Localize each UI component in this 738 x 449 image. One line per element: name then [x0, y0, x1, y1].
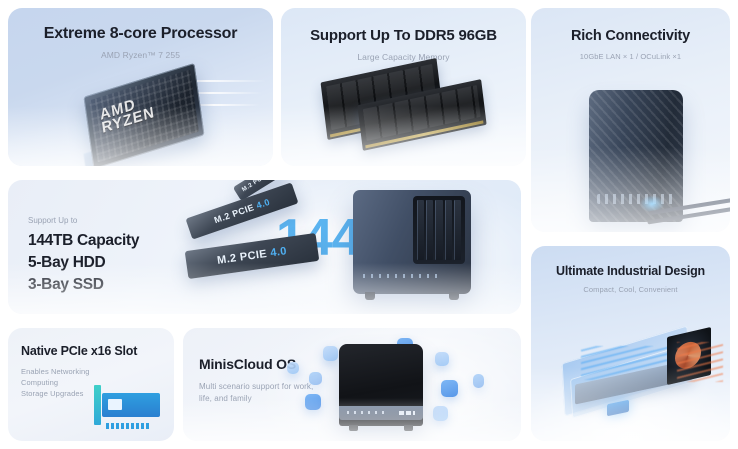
panel-industrial-design: Ultimate Industrial Design Compact, Cool…	[531, 246, 730, 441]
pcie-edge-connector	[106, 423, 150, 429]
panel-miniscloud-os: MinisCloud OS Multi scenario support for…	[183, 328, 521, 441]
storage-eyebrow: Support Up to	[28, 216, 77, 225]
nas-cube-icon	[353, 190, 471, 294]
storage-lines: 144TB Capacity 5-Bay HDD 3-Bay SSD	[28, 230, 139, 296]
design-title: Ultimate Industrial Design	[531, 264, 730, 278]
design-subtitle: Compact, Cool, Convenient	[531, 285, 730, 294]
panel-processor: Extreme 8-core Processor AMD Ryzen™ 7 25…	[8, 8, 273, 166]
sync-app-icon	[433, 406, 448, 421]
nas-foot	[365, 292, 375, 300]
processor-title: Extreme 8-core Processor	[8, 25, 273, 43]
drive-bay	[454, 200, 461, 260]
pcie-pcb	[102, 393, 160, 417]
pcie-bracket	[94, 385, 101, 425]
backup-app-icon	[435, 352, 449, 366]
cpu-chip-icon: AMD RYZEN	[8, 62, 273, 166]
nas-foot	[349, 425, 358, 431]
pcie-title: Native PCIe x16 Slot	[21, 344, 174, 358]
nas-ports	[399, 411, 415, 415]
status-leds	[363, 274, 441, 278]
nas-device-icon	[339, 344, 423, 426]
exploded-view-render	[545, 324, 717, 420]
storage-line-capacity: 144TB Capacity	[28, 230, 139, 252]
os-subtitle-line-2: life, and family	[199, 393, 344, 405]
processor-subtitle: AMD Ryzen™ 7 255	[8, 50, 273, 60]
sync-app-icon	[287, 362, 299, 374]
panel-storage: Support Up to 144TB Capacity 5-Bay HDD 3…	[8, 180, 521, 314]
nas-foot	[404, 425, 413, 431]
panel-pcie-slot: Native PCIe x16 Slot Enables Networking …	[8, 328, 174, 441]
memory-title: Support Up To DDR5 96GB	[281, 27, 526, 44]
heat-lines	[677, 342, 723, 382]
memory-subtitle: Large Capacity Memory	[281, 52, 526, 62]
drive-bay	[445, 200, 452, 260]
panel-memory: Support Up To DDR5 96GB Large Capacity M…	[281, 8, 526, 166]
nas-foot	[449, 292, 459, 300]
pcie-card-icon	[94, 391, 160, 425]
connectivity-subtitle: 10GbE LAN × 1 / OCuLink ×1	[531, 52, 730, 61]
pcie-subtitle-line-1: Enables Networking	[21, 366, 174, 377]
storage-line-ssd: 3-Bay SSD	[28, 274, 139, 296]
files-app-icon	[305, 394, 321, 410]
ssd-label: M.2 PCIE 4.0	[213, 197, 271, 225]
os-subtitle: Multi scenario support for work, life, a…	[199, 381, 344, 405]
ssd-label: M.2 PCIE 4.0	[216, 245, 287, 267]
drive-bays	[413, 196, 465, 264]
photos-app-icon	[323, 346, 338, 361]
docker-app-icon	[441, 380, 458, 397]
m2-ssd-icon: M.2 PCIE 4.0	[185, 233, 320, 279]
cloud-app-icon	[309, 372, 322, 385]
os-subtitle-line-1: Multi scenario support for work,	[199, 381, 344, 393]
connectivity-title: Rich Connectivity	[531, 28, 730, 44]
drive-bay	[426, 200, 433, 260]
drive-bay	[417, 200, 424, 260]
ram-stick-icon	[281, 66, 526, 166]
drive-app-icon	[473, 374, 484, 388]
panel-connectivity: Rich Connectivity 10GbE LAN × 1 / OCuLin…	[531, 8, 730, 232]
feature-collage: Extreme 8-core Processor AMD Ryzen™ 7 25…	[0, 0, 738, 449]
storage-line-hdd: 5-Bay HDD	[28, 252, 139, 274]
drive-bay	[435, 200, 442, 260]
